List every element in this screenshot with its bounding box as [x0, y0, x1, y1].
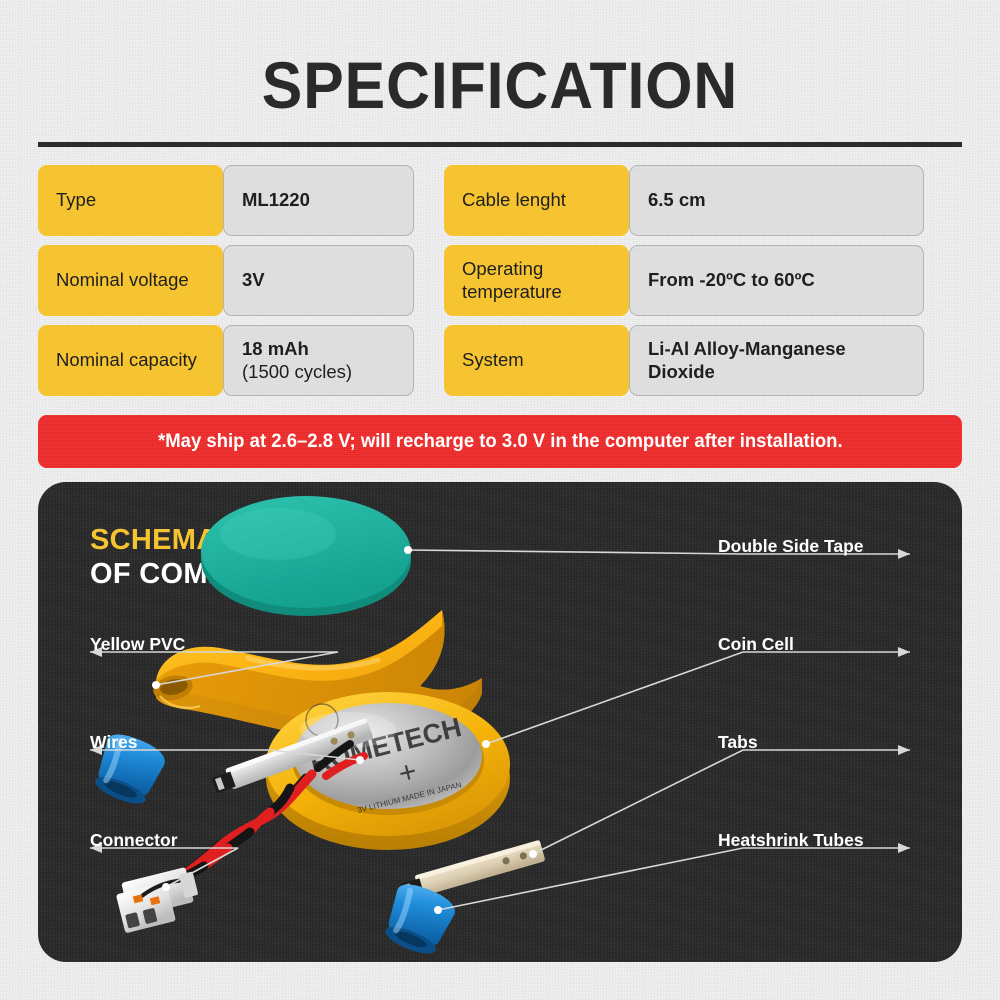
specification-infographic: SPECIFICATION Type ML1220 Cable lenght 6…: [0, 0, 1000, 1000]
shipping-voltage-notice-text: *May ship at 2.6–2.8 V; will recharge to…: [158, 430, 843, 453]
title-divider: [38, 142, 962, 147]
column-gap: [414, 245, 444, 316]
spec-value-nominal-capacity-text: 18 mAh: [242, 338, 352, 361]
double-side-tape-artwork: [201, 496, 411, 616]
spec-value-system: Li-Al Alloy-Manganese Dioxide: [629, 325, 924, 396]
spec-value-cable-lenght-text: 6.5 cm: [648, 189, 706, 212]
callout-label-double-side-tape: Double Side Tape: [718, 536, 864, 557]
callout-label-heatshrink-tubes: Heatshrink Tubes: [718, 830, 864, 851]
spec-label-type: Type: [38, 165, 223, 236]
spec-label-cable-lenght: Cable lenght: [444, 165, 629, 236]
spec-label-operating-temperature: Operating temperature: [444, 245, 629, 316]
arrowhead-double-side-tape: [898, 549, 910, 559]
arrowhead-tabs: [898, 745, 910, 755]
column-gap: [414, 165, 444, 236]
spec-value-system-text: Li-Al Alloy-Manganese Dioxide: [648, 338, 905, 383]
spec-value-type-text: ML1220: [242, 189, 310, 212]
spec-label-nominal-capacity: Nominal capacity: [38, 325, 223, 396]
leader-coin-cell: [486, 652, 910, 744]
spec-label-nominal-voltage: Nominal voltage: [38, 245, 223, 316]
page-title: SPECIFICATION: [40, 0, 960, 118]
callout-label-connector: Connector: [90, 830, 178, 851]
arrowhead-heatshrink-tubes: [898, 843, 910, 853]
spec-value-cable-lenght: 6.5 cm: [629, 165, 924, 236]
arrowhead-coin-cell: [898, 647, 910, 657]
spec-value-operating-temperature-text: From -20ºC to 60ºC: [648, 269, 815, 292]
callout-label-coin-cell: Coin Cell: [718, 634, 794, 655]
connector-artwork: [113, 866, 203, 934]
heatshrink-tube-lower-artwork: [378, 879, 459, 961]
spec-value-nominal-voltage: 3V: [223, 245, 414, 316]
spec-value-nominal-capacity: 18 mAh (1500 cycles): [223, 325, 414, 396]
spec-label-system: System: [444, 325, 629, 396]
spec-value-nominal-voltage-text: 3V: [242, 269, 265, 292]
callout-label-wires: Wires: [90, 732, 138, 753]
specification-table: Type ML1220 Cable lenght 6.5 cm Nominal …: [38, 165, 962, 396]
spec-value-type: ML1220: [223, 165, 414, 236]
spec-value-operating-temperature: From -20ºC to 60ºC: [629, 245, 924, 316]
callout-label-tabs: Tabs: [718, 732, 758, 753]
spec-value-nominal-capacity-sub: (1500 cycles): [242, 361, 352, 384]
coin-cell-artwork: ROMETECH + 3V LITHIUM MADE IN JAPAN: [266, 692, 510, 850]
callout-label-yellow-pvc: Yellow PVC: [90, 634, 185, 655]
column-gap: [414, 325, 444, 396]
schematic-panel: SCHEMATIC LAYOUT OF COMPONENTS: [38, 482, 962, 962]
shipping-voltage-notice: *May ship at 2.6–2.8 V; will recharge to…: [38, 415, 962, 468]
